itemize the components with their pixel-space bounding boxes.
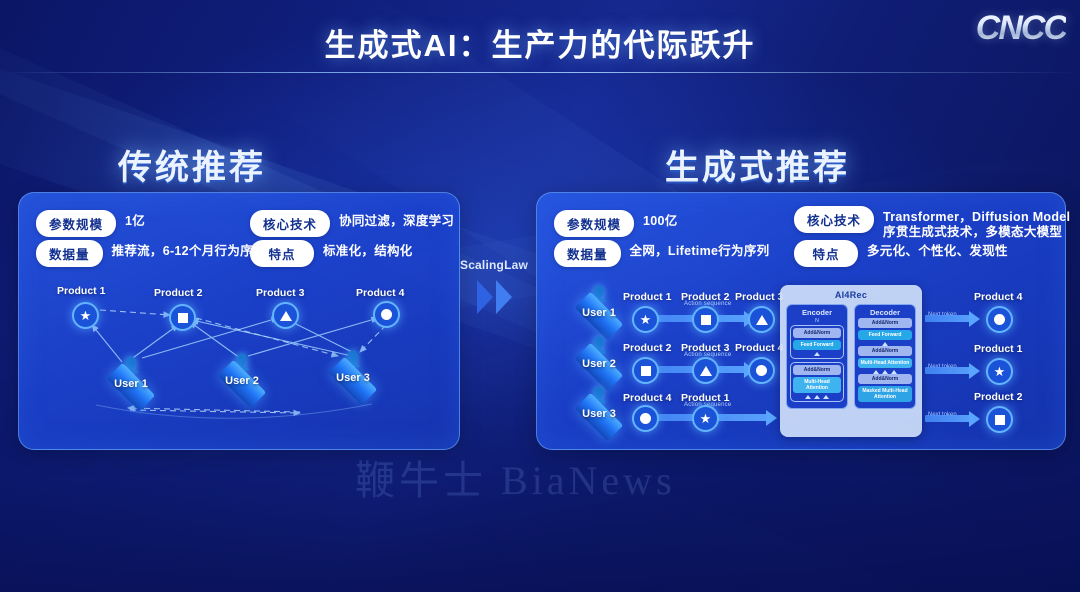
decoder-block-addnorm-1: Add&Norm bbox=[858, 318, 912, 328]
spec-label-pill: 特点 bbox=[794, 240, 858, 267]
encoder-layer-count: N bbox=[790, 318, 844, 324]
decoder-block-multihead: Multi-Head Attention bbox=[858, 358, 912, 368]
product-label: Product 4 bbox=[356, 287, 404, 299]
spec-row-right-param: 参数规模 100亿 bbox=[554, 210, 678, 237]
decoder-block-addnorm-3: Add&Norm bbox=[858, 374, 912, 384]
spec-label-pill: 核心技术 bbox=[794, 206, 874, 233]
seq-product-label: Product 4 bbox=[623, 392, 671, 404]
spec-row-left-param: 参数规模 1亿 bbox=[36, 210, 145, 237]
seq-product-node-circle[interactable] bbox=[632, 405, 659, 432]
output-arrow bbox=[925, 415, 971, 422]
product-node-circle[interactable] bbox=[373, 301, 400, 328]
spec-value: 1亿 bbox=[125, 210, 145, 229]
spec-row-left-tech: 核心技术 协同过滤，深度学习 bbox=[250, 210, 454, 237]
decoder-block-feedforward: Feed Forward bbox=[858, 330, 912, 340]
encoder-title: Encoder bbox=[790, 308, 844, 317]
decoder-title: Decoder bbox=[858, 308, 912, 317]
seq-product-node-triangle[interactable] bbox=[692, 357, 719, 384]
spec-row-left-data: 数据量 推荐流，6-12个月行为序列 bbox=[36, 240, 266, 267]
encoder-block-feedforward: Feed Forward bbox=[793, 340, 841, 350]
header-divider bbox=[0, 72, 1080, 73]
user-node-1[interactable]: 👤 User 1 bbox=[92, 358, 170, 403]
encoder-column: Encoder N Add&Norm Feed Forward Add&Norm… bbox=[786, 304, 848, 409]
spec-label-pill: 核心技术 bbox=[250, 210, 330, 237]
seq-product-label: Product 4 bbox=[735, 342, 783, 354]
product-label: Product 1 bbox=[57, 285, 105, 297]
spec-value: 100亿 bbox=[643, 210, 678, 229]
user-label: User 1 bbox=[563, 307, 635, 319]
spec-value: 全网，Lifetime行为序列 bbox=[630, 240, 770, 259]
encoder-block-addnorm-1: Add&Norm bbox=[793, 328, 841, 338]
section-heading-generative: 生成式推荐 bbox=[665, 140, 850, 189]
product-node-triangle[interactable] bbox=[272, 302, 299, 329]
spec-value: 多元化、个性化、发现性 bbox=[867, 240, 1008, 259]
spec-value: 协同过滤，深度学习 bbox=[339, 210, 454, 229]
scaling-law-transition: ScalingLaw bbox=[455, 258, 533, 314]
seq-product-node-star[interactable]: ★ bbox=[632, 306, 659, 333]
product-node-star[interactable]: ★ bbox=[72, 302, 99, 329]
seq-product-label: Product 3 bbox=[735, 291, 783, 303]
user-node-3[interactable]: 👤 User 3 bbox=[314, 352, 392, 397]
user-platform: User 2 bbox=[563, 353, 635, 383]
spec-row-left-feature: 特点 标准化，结构化 bbox=[250, 240, 413, 267]
output-product-node-square[interactable] bbox=[986, 406, 1013, 433]
spec-value: 推荐流，6-12个月行为序列 bbox=[112, 240, 266, 259]
spec-label-pill: 特点 bbox=[250, 240, 314, 267]
output-product-label: Product 2 bbox=[974, 391, 1022, 403]
user-label: User 3 bbox=[563, 408, 635, 420]
seq-product-label: Product 1 bbox=[623, 291, 671, 303]
user-label: User 2 bbox=[563, 358, 635, 370]
ai4rec-model-box[interactable]: AI4Rec Encoder N Add&Norm Feed Forward A… bbox=[780, 285, 922, 437]
user-platform: User 3 bbox=[563, 403, 635, 433]
output-arrow bbox=[925, 315, 971, 322]
section-heading-traditional: 传统推荐 bbox=[118, 140, 266, 189]
seq-product-node-square[interactable] bbox=[632, 357, 659, 384]
output-arrow-head bbox=[969, 311, 980, 327]
product-label: Product 2 bbox=[154, 287, 202, 299]
user-node-2[interactable]: 👤 User 2 bbox=[203, 355, 281, 400]
output-arrow bbox=[925, 367, 971, 374]
spec-row-right-feature: 特点 多元化、个性化、发现性 bbox=[794, 240, 1008, 267]
seq-product-node-triangle[interactable] bbox=[748, 306, 775, 333]
seq-product-node-circle[interactable] bbox=[748, 357, 775, 384]
spec-value: Transformer，Diffusion Model 序贯生成式技术，多模态大… bbox=[883, 206, 1070, 240]
sequence-arrow-head bbox=[766, 410, 777, 426]
spec-value: 标准化，结构化 bbox=[323, 240, 413, 259]
product-node-square[interactable] bbox=[169, 304, 196, 331]
encoder-block-multihead: Multi-Head Attention bbox=[793, 377, 841, 393]
cncc-logo: CNCC bbox=[976, 9, 1066, 48]
chevron-right-icon bbox=[455, 280, 533, 314]
seq-product-label: Product 2 bbox=[623, 342, 671, 354]
output-arrow-head bbox=[969, 363, 980, 379]
output-product-node-star[interactable]: ★ bbox=[986, 358, 1013, 385]
user-label: User 3 bbox=[317, 372, 389, 384]
output-product-label: Product 1 bbox=[974, 343, 1022, 355]
spec-label-pill: 参数规模 bbox=[554, 210, 634, 237]
decoder-column: Decoder Add&Norm Feed Forward Add&Norm M… bbox=[854, 304, 916, 409]
scaling-law-label: ScalingLaw bbox=[455, 258, 533, 272]
spec-label-pill: 数据量 bbox=[36, 240, 103, 267]
user-platform: User 1 bbox=[563, 302, 635, 332]
encoder-block-addnorm-2: Add&Norm bbox=[793, 365, 841, 375]
spec-label-pill: 参数规模 bbox=[36, 210, 116, 237]
seq-product-node-star[interactable]: ★ bbox=[692, 405, 719, 432]
user-platform: User 2 bbox=[206, 370, 278, 400]
decoder-block-masked-multihead: Masked Multi-Head Attention bbox=[858, 386, 912, 402]
spec-row-right-data: 数据量 全网，Lifetime行为序列 bbox=[554, 240, 769, 267]
decoder-block-addnorm-2: Add&Norm bbox=[858, 346, 912, 356]
product-label: Product 3 bbox=[256, 287, 304, 299]
output-arrow-head bbox=[969, 411, 980, 427]
page-title: 生成式AI：生产力的代际跃升 bbox=[0, 20, 1080, 65]
user-platform: User 3 bbox=[317, 367, 389, 397]
seq-product-node-square[interactable] bbox=[692, 306, 719, 333]
spec-label-pill: 数据量 bbox=[554, 240, 621, 267]
arrow-up-icon bbox=[793, 352, 841, 356]
user-platform: User 1 bbox=[95, 373, 167, 403]
user-label: User 1 bbox=[95, 378, 167, 390]
arrow-up-icon bbox=[793, 395, 841, 399]
spec-row-right-tech: 核心技术 Transformer，Diffusion Model 序贯生成式技术… bbox=[794, 206, 1070, 240]
slide-header: 生成式AI：生产力的代际跃升 CNCC bbox=[0, 0, 1080, 76]
watermark: 鞭牛士 BiaNews bbox=[355, 448, 676, 506]
output-product-node-circle[interactable] bbox=[986, 306, 1013, 333]
output-product-label: Product 4 bbox=[974, 291, 1022, 303]
model-title: AI4Rec bbox=[780, 285, 922, 300]
user-label: User 2 bbox=[206, 375, 278, 387]
